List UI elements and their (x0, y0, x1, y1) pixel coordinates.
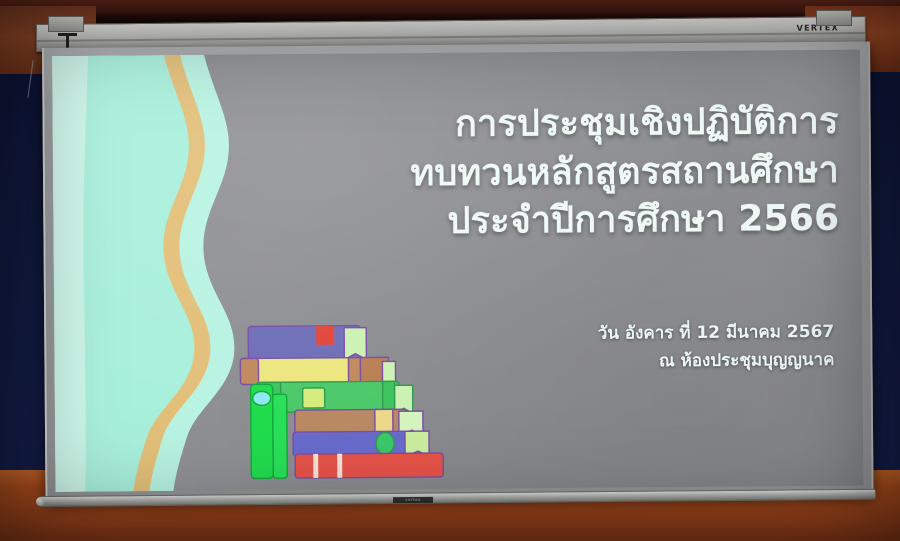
subtitle-line-venue: ณ ห้องประชุมบุญญนาค (294, 346, 834, 378)
projected-slide: การประชุมเชิงปฏิบัติการ ทบทวนหลักสูตรสถา… (52, 50, 863, 492)
mount-bracket-right (816, 10, 852, 26)
slide-title: การประชุมเชิงปฏิบัติการ ทบทวนหลักสูตรสถา… (238, 98, 839, 248)
mount-bracket-left (48, 16, 84, 32)
slide-subtitle: วัน อังคาร ที่ 12 มีนาคม 2567 ณ ห้องประช… (294, 318, 834, 378)
title-line-1: การประชุมเชิงปฏิบัติการ (238, 98, 838, 151)
roller-groove (37, 32, 865, 42)
screen-bottom-brand-label: vertex (393, 497, 433, 503)
ceiling-beam-highlight (0, 0, 900, 13)
screen-bar-end-cap (36, 497, 45, 506)
subtitle-line-date: วัน อังคาร ที่ 12 มีนาคม 2567 (294, 318, 834, 350)
title-line-2: ทบทวนหลักสูตรสถานศึกษา (239, 146, 839, 199)
room-photo-scene: VERTEX (0, 0, 900, 541)
title-line-3: ประจำปีการศึกษา 2566 (239, 195, 839, 248)
